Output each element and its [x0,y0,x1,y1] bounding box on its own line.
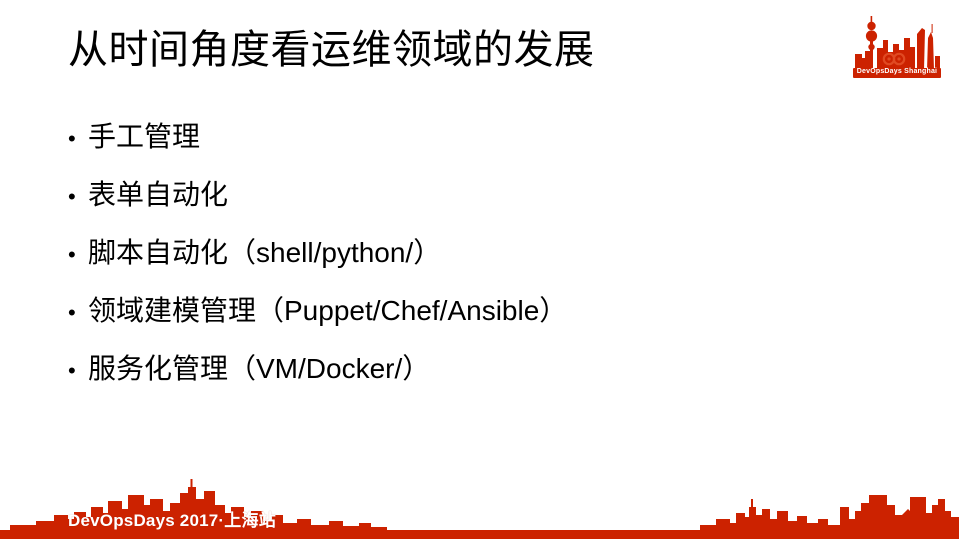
list-item: • 脚本自动化（shell/python/） [68,224,868,282]
devopsdays-shanghai-logo-icon: DevOpsDays Shanghai [847,14,947,78]
list-item-label: 领域建模管理（Puppet/Chef/Ansible） [88,282,567,340]
list-item-label: 脚本自动化（shell/python/） [88,224,441,282]
footer-skyline: DevOpsDays 2017·上海站 [0,469,959,539]
bullet-point-icon: • [68,342,88,400]
list-item-label: 手工管理 [88,108,200,166]
footer-event-label: DevOpsDays 2017·上海站 [68,506,276,531]
list-item-label: 服务化管理（VM/Docker/） [88,340,430,398]
presentation-slide: 从时间角度看运维领域的发展 • 手工管理 • 表单自动化 • 脚本自动化（she… [0,0,959,539]
list-item: • 手工管理 [68,108,868,166]
page-title: 从时间角度看运维领域的发展 [68,22,595,78]
bullet-point-icon: • [68,110,88,168]
list-item: • 服务化管理（VM/Docker/） [68,340,868,398]
list-item-label: 表单自动化 [88,166,228,224]
bullet-point-icon: • [68,226,88,284]
bullet-list: • 手工管理 • 表单自动化 • 脚本自动化（shell/python/） • … [68,108,868,398]
list-item: • 表单自动化 [68,166,868,224]
bullet-point-icon: • [68,284,88,342]
list-item: • 领域建模管理（Puppet/Chef/Ansible） [68,282,868,340]
bullet-point-icon: • [68,168,88,226]
